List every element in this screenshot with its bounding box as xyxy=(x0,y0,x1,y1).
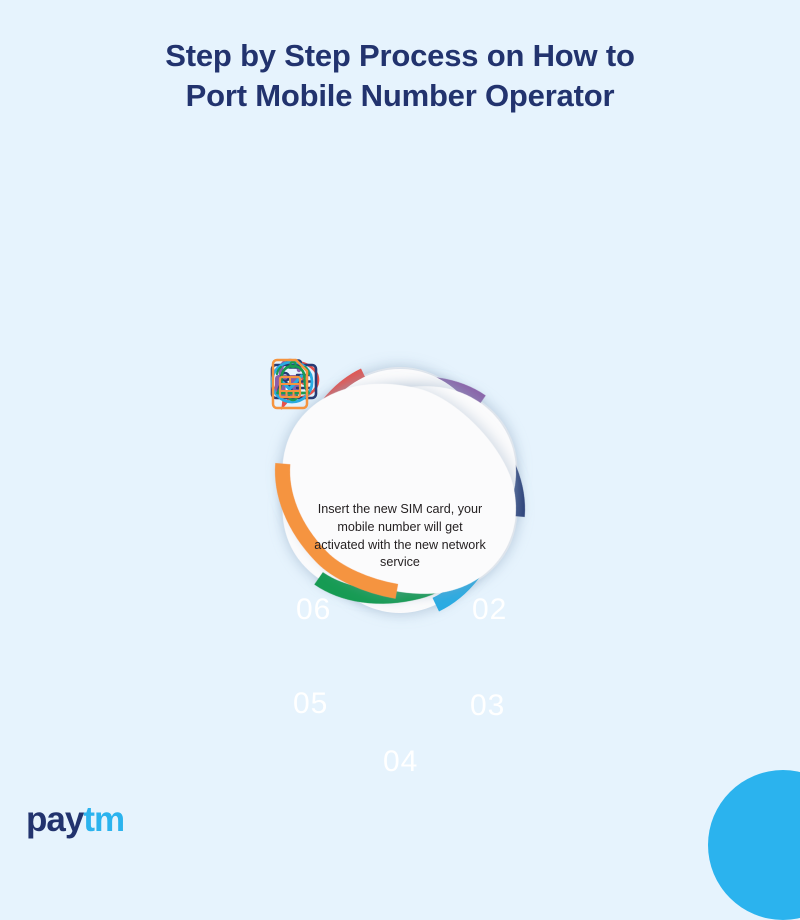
page-title: Step by Step Process on How to Port Mobi… xyxy=(0,36,800,115)
logo-text-pay: pay xyxy=(26,800,83,839)
title-line-1: Step by Step Process on How to xyxy=(0,36,800,76)
logo-text-tm: tm xyxy=(83,800,124,839)
step-number-04: 04 xyxy=(383,745,418,779)
step-description-06: Insert the new SIM card, your mobile num… xyxy=(314,501,486,573)
process-flower-diagram: SMS Send an SMS - PORT followed by space… xyxy=(0,168,800,813)
paytm-logo: paytm xyxy=(26,800,124,840)
title-line-2: Port Mobile Number Operator xyxy=(0,76,800,116)
step-petal-06[interactable]: Insert the new SIM card, your mobile num… xyxy=(221,311,579,669)
step-number-03: 03 xyxy=(470,689,505,723)
step-number-05: 05 xyxy=(293,687,328,721)
sim-card-icon xyxy=(373,438,427,492)
